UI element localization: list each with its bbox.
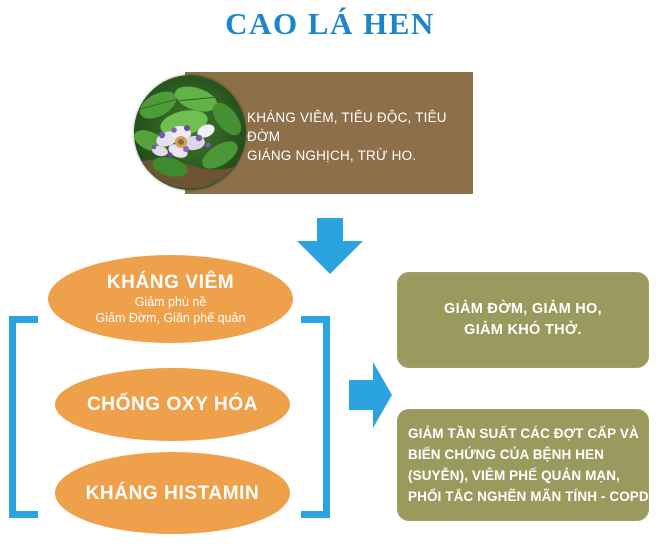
result-box-symptom-relief[interactable]: GIẢM ĐỜM, GIẢM HO, GIẢM KHÓ THỞ.	[397, 272, 649, 368]
bracket-left-icon	[8, 316, 40, 518]
bracket-right-icon	[299, 316, 331, 518]
arrow-right-icon	[349, 360, 393, 430]
banner-text: KHÁNG VIÊM, TIÊU ĐỘC, TIÊU ĐỜM GIÁNG NGH…	[247, 108, 477, 165]
mechanism-chong-oxy-hoa[interactable]: CHỐNG OXY HÓA	[55, 368, 290, 441]
result-box-exacerbation-reduction[interactable]: GIẢM TẦN SUẤT CÁC ĐỢT CẤP VÀ BIẾN CHỨNG …	[397, 409, 649, 521]
mechanism-khang-viem[interactable]: KHÁNG VIÊM Giảm phù nề Giảm Đờm, Giãn ph…	[48, 255, 293, 343]
mechanism-title: KHÁNG HISTAMIN	[86, 482, 260, 505]
mechanism-khang-histamin[interactable]: KHÁNG HISTAMIN	[55, 452, 290, 534]
result-text: GIẢM TẦN SUẤT CÁC ĐỢT CẤP VÀ BIẾN CHỨNG …	[397, 423, 649, 507]
mechanism-title: CHỐNG OXY HÓA	[87, 393, 258, 416]
mechanism-title: KHÁNG VIÊM	[107, 271, 234, 294]
page-title: CAO LÁ HEN	[0, 6, 660, 42]
infographic-canvas: CAO LÁ HEN KHÁNG VIÊM, TIÊU ĐỘC, TIÊU ĐỜ…	[0, 0, 660, 550]
mechanism-subtitle: Giảm phù nề Giảm Đờm, Giãn phế quản	[96, 294, 246, 326]
arrow-down-icon	[295, 218, 365, 276]
plant-photo	[134, 75, 246, 190]
result-text: GIẢM ĐỜM, GIẢM HO, GIẢM KHÓ THỞ.	[444, 299, 602, 341]
